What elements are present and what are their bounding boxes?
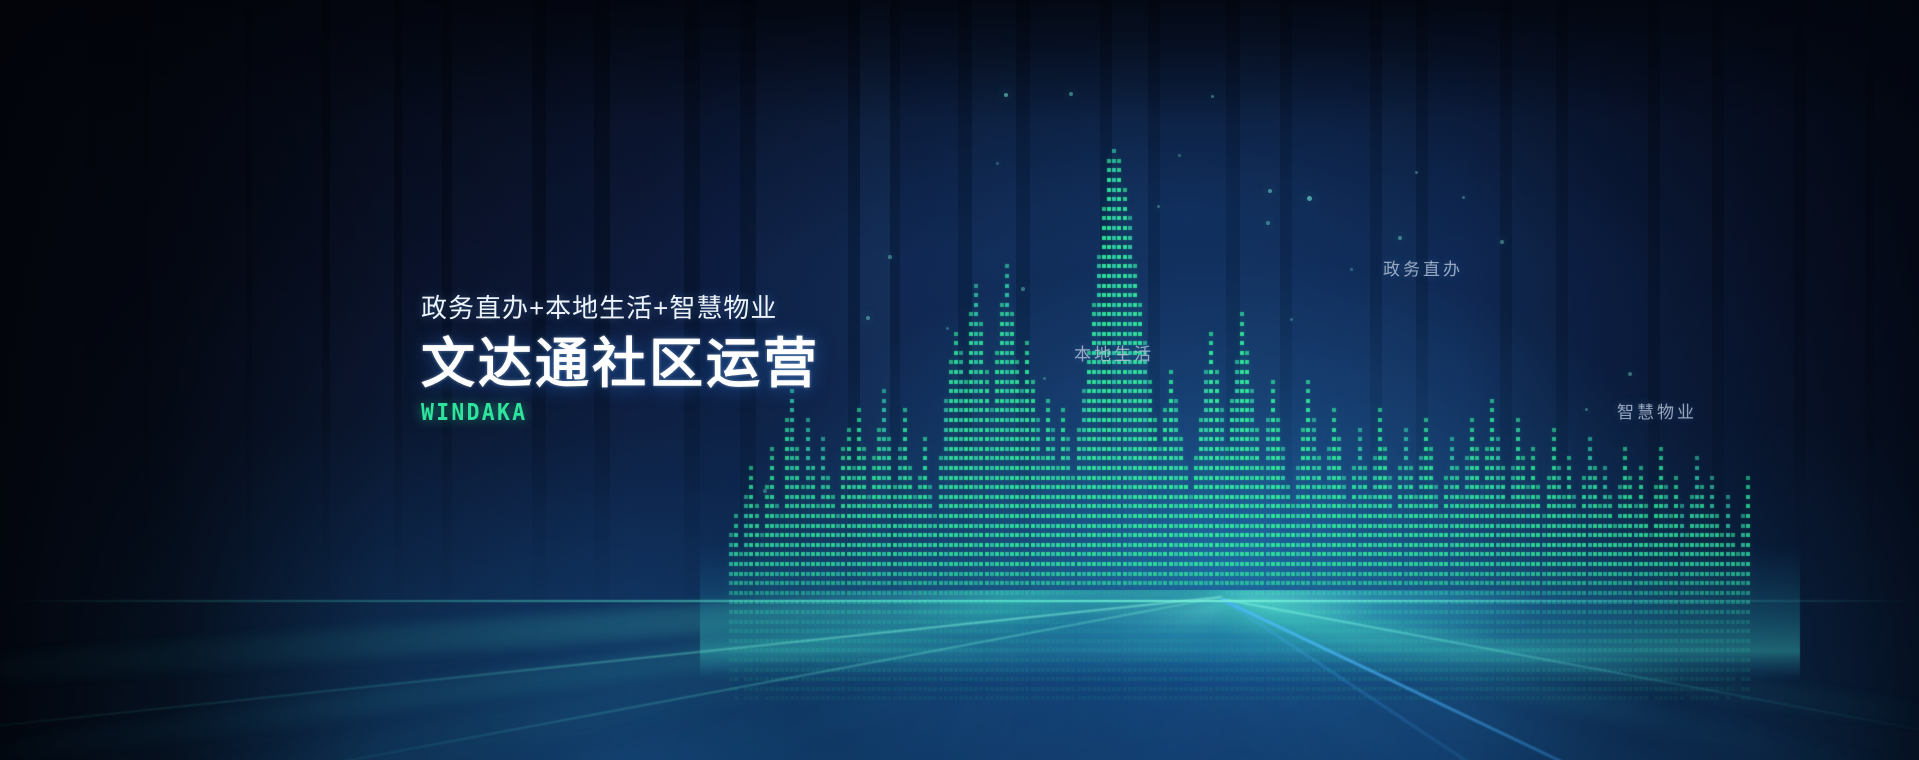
horizon-line (0, 600, 1919, 602)
banner-stage: 政务直办+本地生活+智慧物业 文达通社区运营 WINDAKA 政务直办本地生活智… (0, 0, 1919, 760)
banner-headline: 文达通社区运营 (421, 334, 981, 394)
horizon-glow (0, 590, 1919, 734)
headline-block: 政务直办+本地生活+智慧物业 文达通社区运营 WINDAKA (421, 292, 981, 426)
floating-label-2: 本地生活 (1074, 340, 1154, 365)
perspective-floor (0, 590, 1919, 760)
brand-wordmark: WINDAKA (421, 400, 942, 426)
banner-subtitle: 政务直办+本地生活+智慧物业 (421, 292, 981, 326)
floating-label-3: 智慧物业 (1617, 398, 1697, 423)
floating-label-1: 政务直办 (1383, 255, 1463, 280)
